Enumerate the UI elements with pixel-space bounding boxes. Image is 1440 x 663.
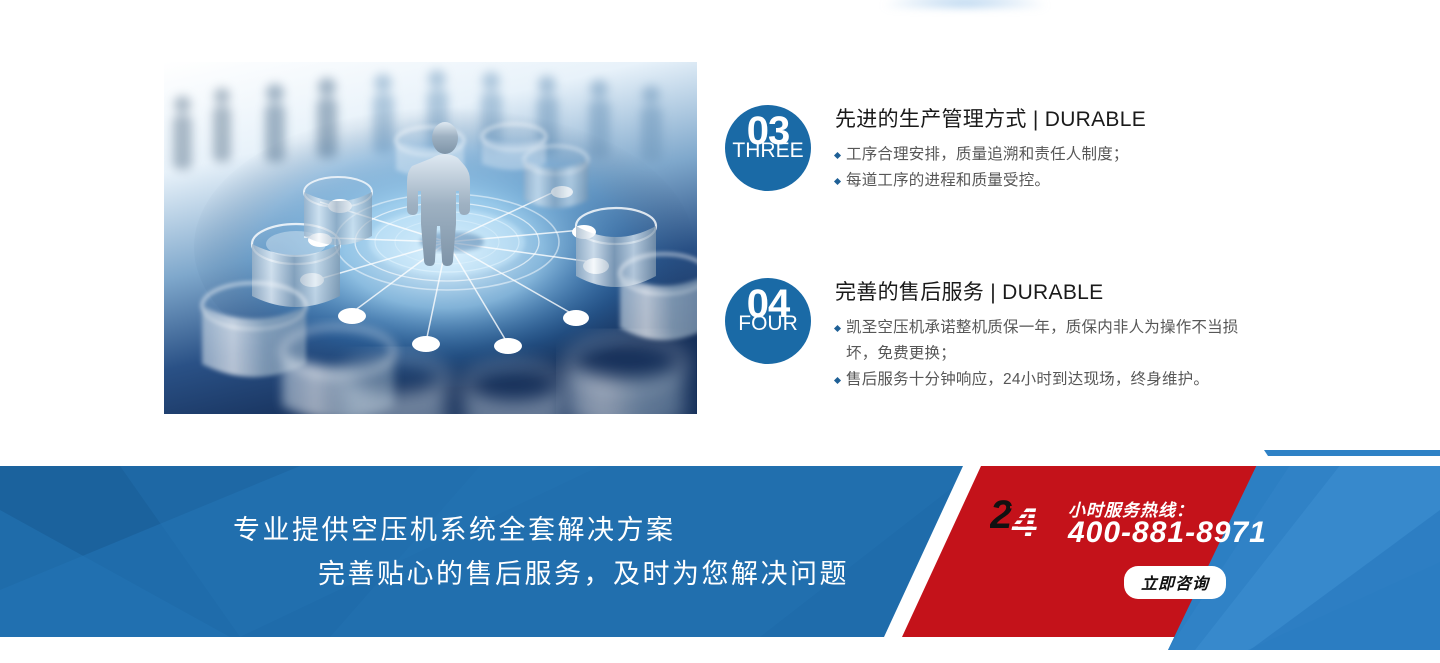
feature-block-04: 04 FOUR 完善的售后服务 | DURABLE 凯圣空压机承诺整机质保一年，… (725, 278, 1245, 393)
bullet-text: 工序合理安排，质量追溯和责任人制度； (846, 146, 1129, 163)
list-item: 工序合理安排，质量追溯和责任人制度； (835, 142, 1245, 168)
list-item: 凯圣空压机承诺整机质保一年，质保内非人为操作不当损坏，免费更换； (835, 315, 1245, 367)
network-concept-photo (164, 62, 697, 414)
feature-text-03: 先进的生产管理方式 | DURABLE 工序合理安排，质量追溯和责任人制度； 每… (835, 105, 1245, 194)
feature-bullet-list: 凯圣空压机承诺整机质保一年，质保内非人为操作不当损坏，免费更换； 售后服务十分钟… (835, 315, 1245, 393)
feature-title: 完善的售后服务 | DURABLE (835, 280, 1245, 306)
bullet-text: 每道工序的进程和质量受控。 (846, 172, 1050, 189)
feature-text-04: 完善的售后服务 | DURABLE 凯圣空压机承诺整机质保一年，质保内非人为操作… (835, 278, 1245, 393)
feature-badge-word: FOUR (725, 312, 811, 336)
bullet-text: 凯圣空压机承诺整机质保一年，质保内非人为操作不当损坏，免费更换； (846, 319, 1239, 362)
svg-text:4: 4 (1011, 496, 1038, 548)
twentyfour-glyph: 2 4 (990, 494, 1062, 550)
feature-badge-03: 03 THREE (725, 105, 811, 191)
diamond-bullet-icon (834, 377, 841, 384)
photo-illustration (164, 62, 697, 414)
feature-block-03: 03 THREE 先进的生产管理方式 | DURABLE 工序合理安排，质量追溯… (725, 105, 1245, 194)
diamond-bullet-icon (834, 178, 841, 185)
feature-title: 先进的生产管理方式 | DURABLE (835, 107, 1245, 133)
bullet-text: 售后服务十分钟响应，24小时到达现场，终身维护。 (846, 371, 1209, 388)
feature-badge-word: THREE (725, 139, 811, 163)
list-item: 每道工序的进程和质量受控。 (835, 168, 1245, 194)
twentyfour-hour-icon: 2 4 (990, 494, 1062, 550)
hotline-number: 400-881-8971 (1068, 516, 1267, 550)
diamond-bullet-icon (834, 152, 841, 159)
page-root: 03 THREE 先进的生产管理方式 | DURABLE 工序合理安排，质量追溯… (0, 0, 1440, 663)
top-edge-smudge (880, 0, 1050, 8)
hotline-block: 2 4 小时服务热线： 400-881-8971 (990, 492, 1320, 562)
feature-badge-04: 04 FOUR (725, 278, 811, 364)
list-item: 售后服务十分钟响应，24小时到达现场，终身维护。 (835, 367, 1245, 393)
diamond-bullet-icon (834, 325, 841, 332)
svg-text:2: 2 (990, 494, 1012, 537)
feature-bullet-list: 工序合理安排，质量追溯和责任人制度； 每道工序的进程和质量受控。 (835, 142, 1245, 194)
consult-now-button[interactable]: 立即咨询 (1124, 566, 1226, 599)
